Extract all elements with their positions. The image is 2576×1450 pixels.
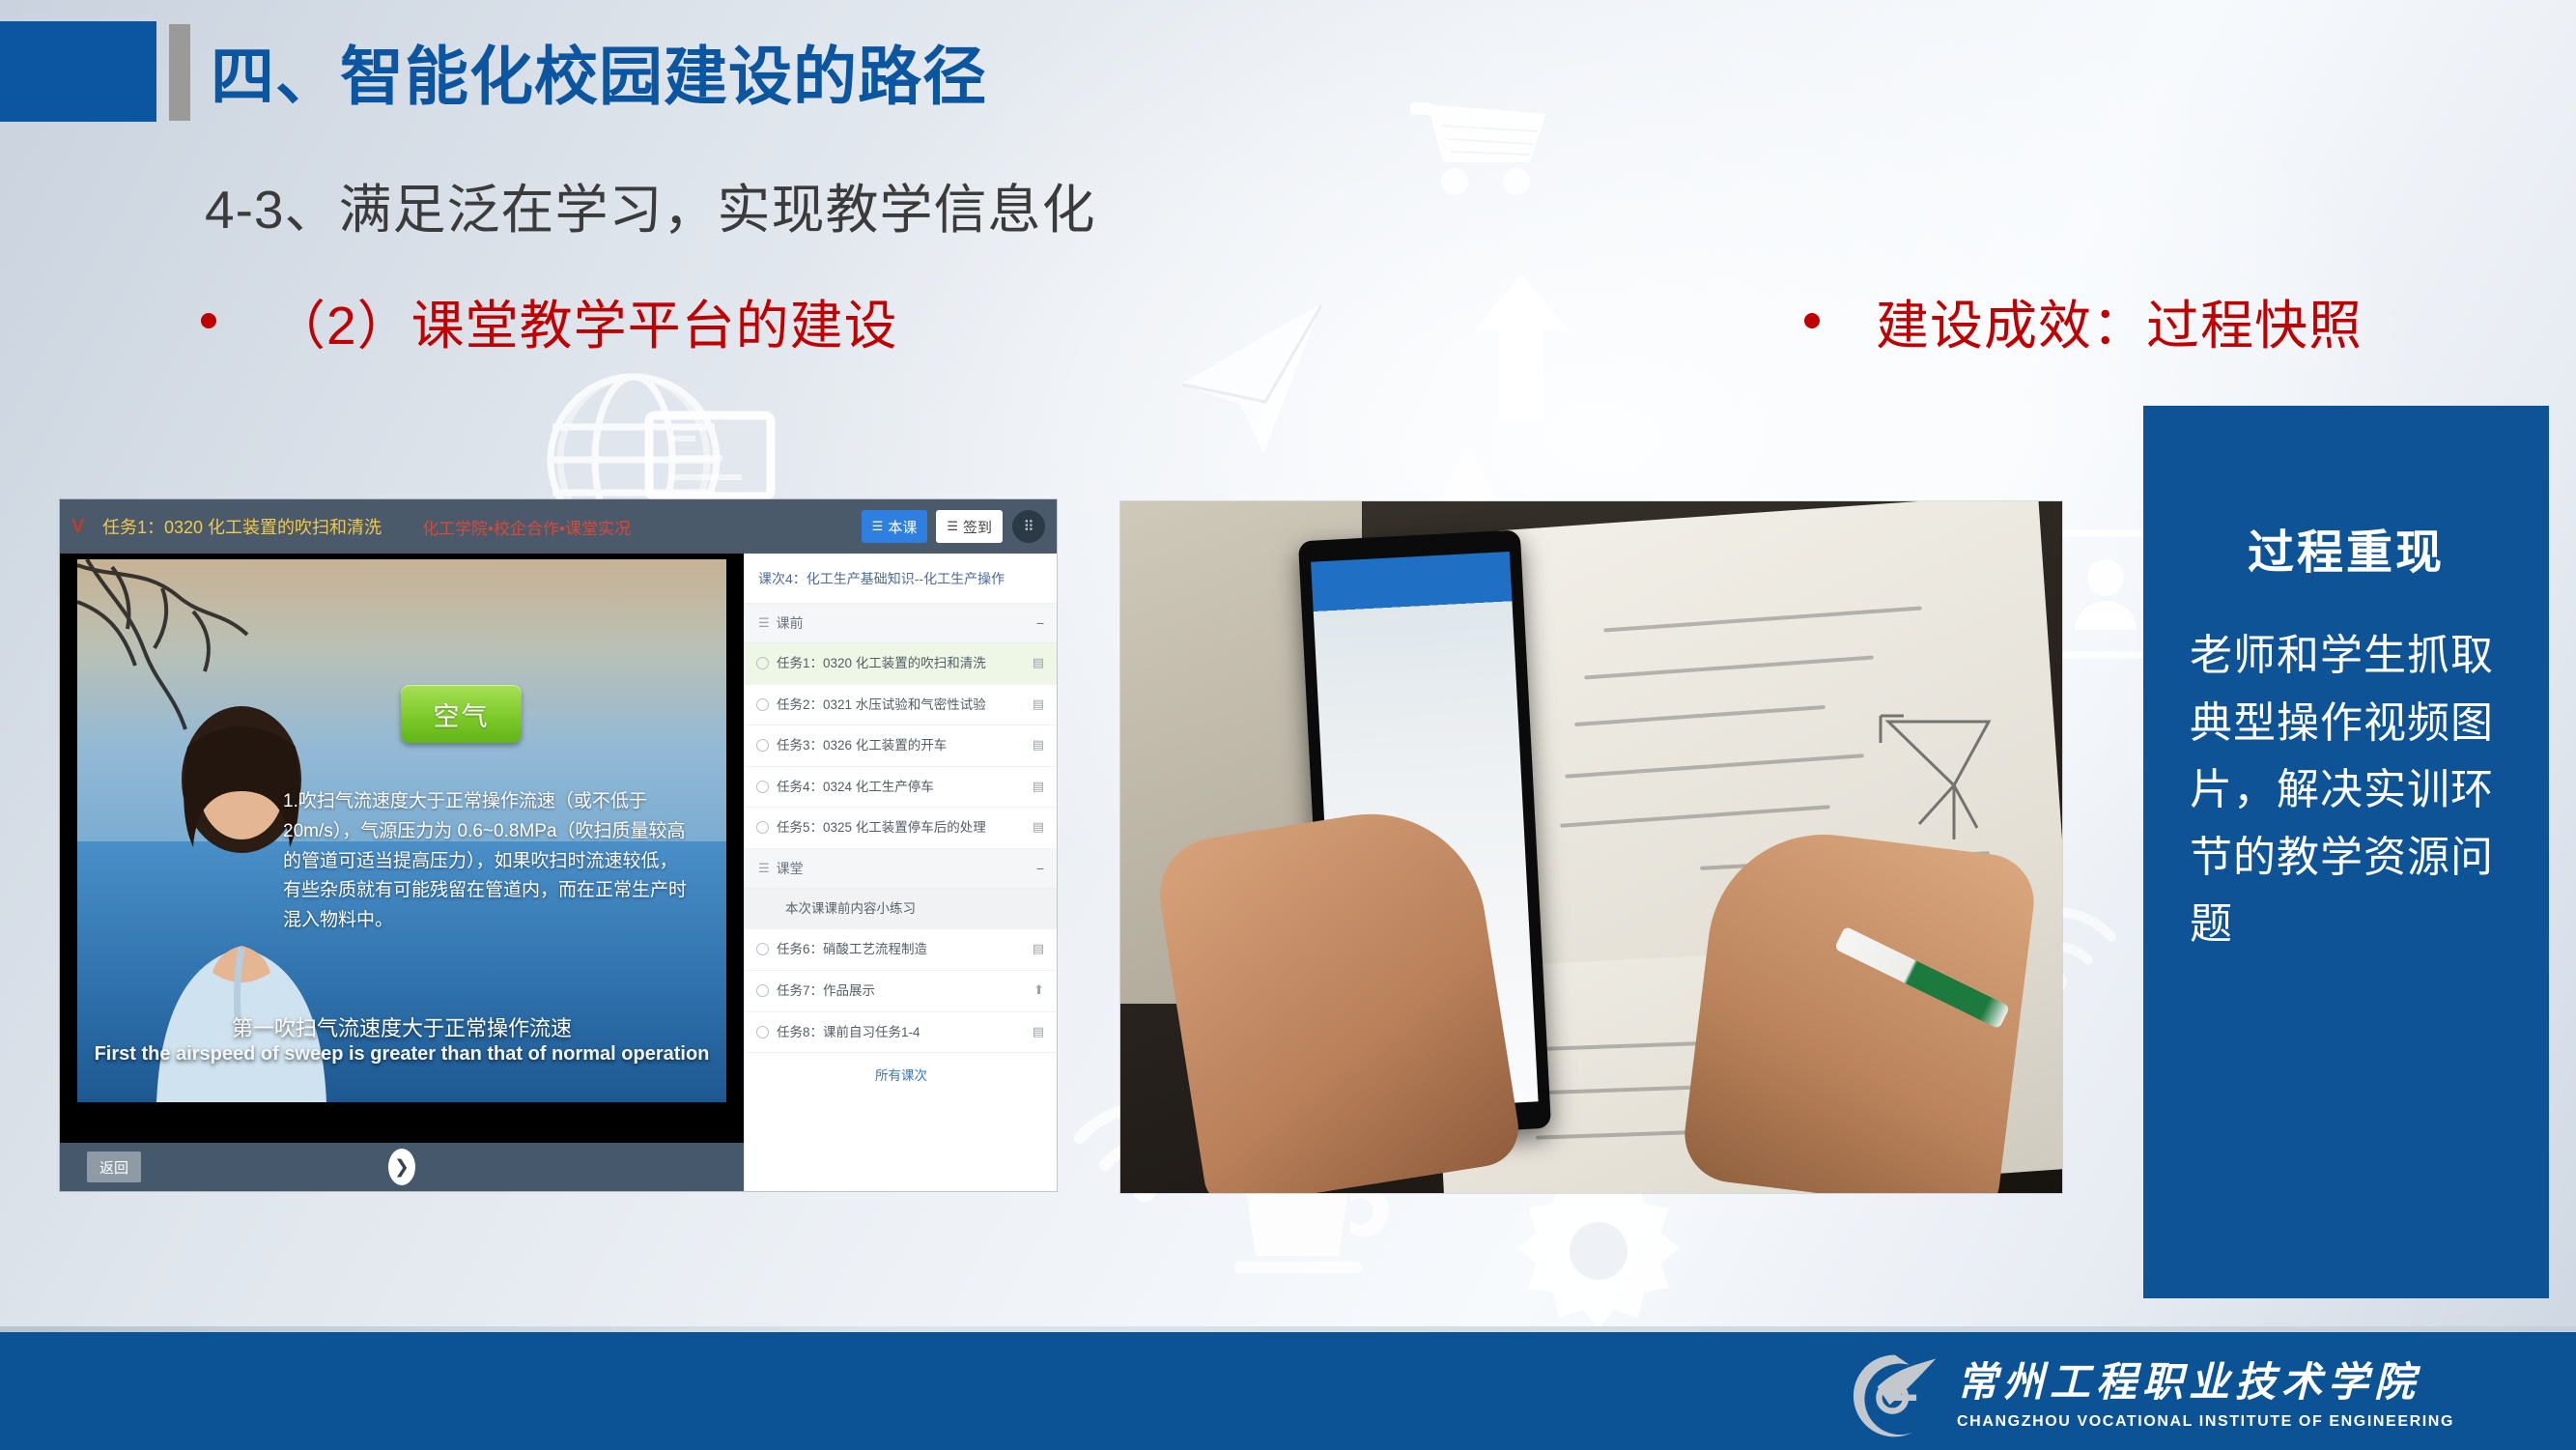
lesson-sidebar-header: 课次4：化工生产基础知识--化工生产操作 (745, 554, 1057, 604)
list-item-label: 任务2：0321 水压试验和气密性试验 (777, 696, 1025, 715)
list-item-label: 任务5：0325 化工装置停车后的处理 (777, 818, 1025, 838)
list-item[interactable]: 任务6：硝酸工艺流程制造 ▤ (745, 929, 1057, 971)
bullet-label-left: （2）课堂教学平台的建设 (272, 282, 898, 359)
checkin-button[interactable]: ☰ 签到 (936, 510, 1003, 543)
platform-topbar: V 任务1：0320 化工装置的吹扫和清洗 化工学院•校企合作•课堂实况 ☰ 本… (60, 499, 1057, 554)
avatar[interactable]: ⠿ (1012, 510, 1045, 543)
platform-topbar-actions: ☰ 本课 ☰ 签到 ⠿ (853, 510, 1045, 543)
doc-icon: ▤ (1033, 654, 1044, 672)
list-item[interactable]: 任务1：0320 化工装置的吹扫和清洗 ▤ (745, 643, 1057, 685)
doc-icon: ▤ (1033, 940, 1044, 958)
list-item-label: 任务1：0320 化工装置的吹扫和清洗 (777, 654, 1025, 673)
up-arrow-icon (1468, 270, 1574, 425)
list-item[interactable]: 任务5：0325 化工装置停车后的处理 ▤ (745, 808, 1057, 849)
list-icon: ☰ (947, 519, 958, 534)
list-item[interactable]: 任务7：作品展示 ⬆ (745, 971, 1057, 1012)
collapse-icon[interactable]: − (1036, 615, 1044, 631)
radio-icon[interactable] (756, 1026, 769, 1038)
footer-top-edge (0, 1326, 2576, 1332)
video-stage[interactable]: 空气 1.吹扫气流速度大于正常操作流速（或不低于20m/s），气源压力为 0.6… (60, 554, 744, 1143)
bullet-dot-icon (201, 313, 216, 328)
paper-plane-icon (1159, 280, 1333, 473)
shopping-cart-icon (1410, 97, 1555, 222)
institution-name-cn: 常州工程职业技术学院 (1957, 1361, 2454, 1406)
panel-body-text: 老师和学生抓取典型操作视频图片，解决实训环节的教学资源问题 (2190, 622, 2503, 958)
radio-icon[interactable] (756, 781, 769, 793)
lesson-sidebar[interactable]: 课次4：化工生产基础知识--化工生产操作 ☰ 课前 − 任务1：0320 化工装… (744, 554, 1057, 1191)
list-item[interactable]: 任务2：0321 水压试验和气密性试验 ▤ (745, 685, 1057, 726)
drag-handle-icon: ☰ (758, 615, 769, 631)
list-item-label: 任务3：0326 化工装置的开车 (777, 736, 1025, 755)
doc-icon: ▤ (1033, 778, 1044, 796)
footer-bar: 常州工程职业技术学院 CHANGZHOU VOCATIONAL INSTITUT… (0, 1332, 2576, 1450)
radio-icon[interactable] (756, 984, 769, 997)
list-item-label: 任务8：课前自习任务1-4 (777, 1023, 1025, 1042)
video-air-button[interactable]: 空气 (401, 685, 522, 743)
avatar-glyph: ⠿ (1024, 518, 1034, 535)
doc-icon: ▤ (1033, 818, 1044, 837)
course-platform-screenshot: V 任务1：0320 化工装置的吹扫和清洗 化工学院•校企合作•课堂实况 ☰ 本… (60, 499, 1057, 1191)
video-subtitles: 第一吹扫气流速度大于正常操作流速 First the airspeed of s… (77, 1016, 726, 1067)
upload-icon: ⬆ (1033, 981, 1044, 1000)
radio-icon[interactable] (756, 657, 769, 669)
panel-title: 过程重现 (2143, 514, 2549, 582)
radio-icon[interactable] (756, 698, 769, 711)
all-lessons-link[interactable]: 所有课次 (745, 1053, 1057, 1095)
radio-icon[interactable] (756, 943, 769, 955)
doc-icon: ▤ (1033, 696, 1044, 714)
back-button[interactable]: 返回 (87, 1151, 141, 1182)
doc-icon: ▤ (1033, 1023, 1044, 1041)
video-subtitle-en: First the airspeed of sweep is greater t… (77, 1041, 726, 1067)
institution-logo-text: 常州工程职业技术学院 CHANGZHOU VOCATIONAL INSTITUT… (1957, 1361, 2454, 1431)
bullet-label-right: 建设成效：过程快照 (1876, 282, 2363, 359)
collapse-icon[interactable]: − (1036, 861, 1044, 876)
lesson-group-header[interactable]: ☰ 课前 − (745, 604, 1057, 643)
doc-icon: ▤ (1033, 736, 1044, 754)
list-item-label: 本次课课前内容小练习 (756, 899, 1044, 919)
list-item[interactable]: 任务8：课前自习任务1-4 ▤ (745, 1012, 1057, 1054)
header-accent-square (0, 21, 156, 122)
lesson-group-label: 课前 (777, 613, 804, 633)
video-frame[interactable]: 空气 1.吹扫气流速度大于正常操作流速（或不低于20m/s），气源压力为 0.6… (77, 559, 726, 1102)
platform-brand-watermark: 化工学院•校企合作•课堂实况 (422, 515, 631, 539)
list-item-label: 任务4：0324 化工生产停车 (777, 778, 1025, 797)
list-item[interactable]: 任务4：0324 化工生产停车 ▤ (745, 767, 1057, 809)
photo-hand-drawn-diagram (1861, 704, 2016, 849)
list-item[interactable]: 本次课课前内容小练习 (745, 889, 1057, 930)
radio-icon[interactable] (756, 821, 769, 834)
lesson-group-left: ☰ 课前 (758, 613, 804, 633)
highlight-panel: 过程重现 老师和学生抓取典型操作视频图片，解决实训环节的教学资源问题 (2143, 406, 2549, 1298)
student-phone-and-notes-photo (1120, 501, 2062, 1193)
institution-name-en: CHANGZHOU VOCATIONAL INSTITUTE OF ENGINE… (1957, 1413, 2454, 1431)
drag-handle-icon: ☰ (758, 861, 769, 876)
video-subtitle-cn: 第一吹扫气流速度大于正常操作流速 (77, 1016, 726, 1041)
page-title: 四、智能化校园建设的路径 (211, 25, 987, 118)
current-lesson-button[interactable]: ☰ 本课 (862, 510, 928, 543)
list-item-label: 任务6：硝酸工艺流程制造 (777, 940, 1025, 959)
lesson-group-left: ☰ 课堂 (758, 859, 804, 878)
institution-logo-icon (1851, 1351, 1939, 1440)
bullet-item-left: （2）课堂教学平台的建设 (201, 282, 898, 359)
bullet-dot-icon (1804, 313, 1820, 328)
video-overlay-paragraph: 1.吹扫气流速度大于正常操作流速（或不低于20m/s），气源压力为 0.6~0.… (283, 787, 689, 936)
page-subtitle: 4-3、满足泛在学习，实现教学信息化 (205, 166, 1096, 243)
lesson-group-label: 课堂 (777, 859, 804, 878)
platform-task-title: 任务1：0320 化工装置的吹扫和清洗 (102, 514, 382, 539)
slide-root: 四、智能化校园建设的路径 4-3、满足泛在学习，实现教学信息化 （2）课堂教学平… (0, 0, 2576, 1450)
institution-logo: 常州工程职业技术学院 CHANGZHOU VOCATIONAL INSTITUT… (1851, 1351, 2454, 1440)
current-lesson-label: 本课 (888, 517, 917, 537)
list-icon: ☰ (872, 519, 884, 534)
radio-icon[interactable] (756, 739, 769, 752)
list-item[interactable]: 任务3：0326 化工装置的开车 ▤ (745, 725, 1057, 767)
platform-logo-icon: V (71, 515, 93, 538)
next-chevron-icon[interactable]: ❯ (388, 1149, 415, 1185)
bullet-item-right: 建设成效：过程快照 (1804, 282, 2363, 359)
lesson-group-header[interactable]: ☰ 课堂 − (745, 849, 1057, 889)
video-control-bar: 返回 ❯ (60, 1143, 744, 1191)
list-item-label: 任务7：作品展示 (777, 981, 1026, 1001)
header-divider-bar (169, 24, 190, 121)
checkin-label: 签到 (963, 517, 992, 537)
